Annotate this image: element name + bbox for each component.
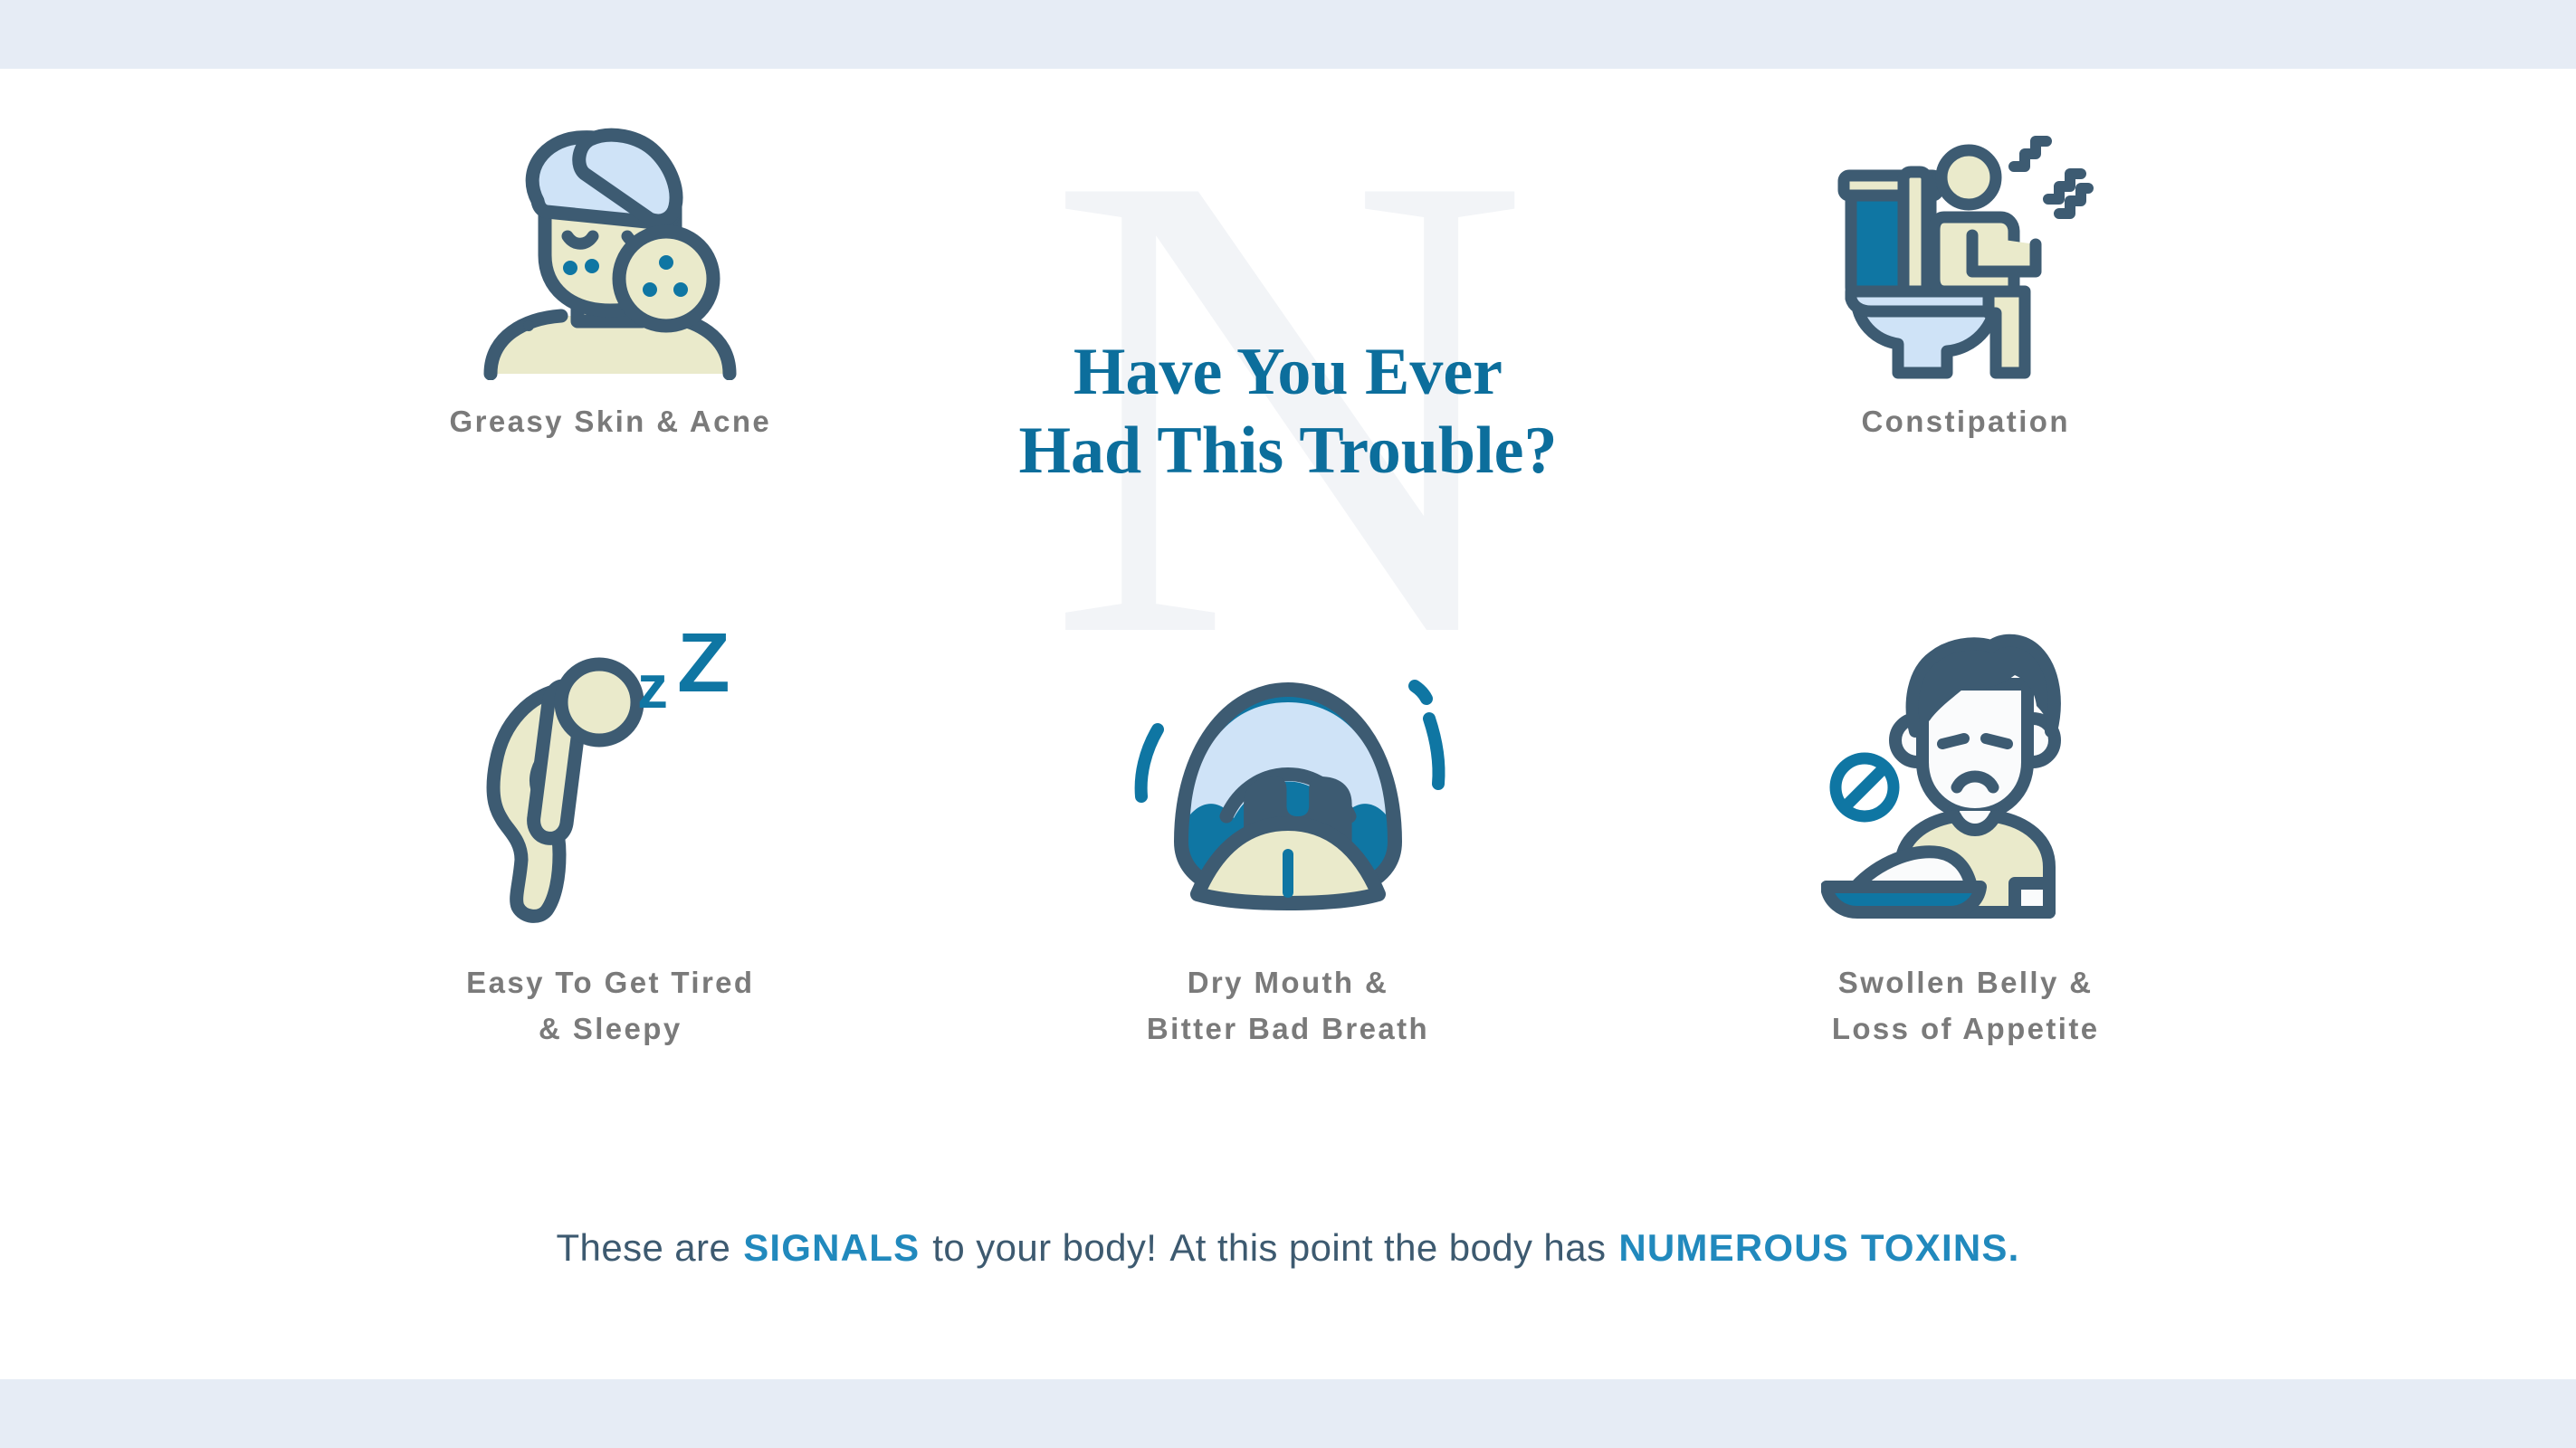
bottom-accent-band [0, 1379, 2576, 1448]
symptom-label: Easy To Get Tired & Sleepy [466, 959, 754, 1052]
person-on-toilet-icon [1835, 109, 2097, 380]
symptom-label: Swollen Belly & Loss of Appetite [1832, 959, 2100, 1052]
page-title: Have You Ever Had This Trouble? [1018, 333, 1557, 491]
footer-part-2: to your body! [932, 1226, 1157, 1269]
footer-emphasis-signals: SIGNALS [743, 1226, 920, 1269]
infographic-poster: N [0, 0, 2576, 1448]
slumped-person-zzz-icon: z Z [474, 561, 746, 923]
top-accent-band [0, 0, 2576, 69]
symptom-card-dry-mouth: Dry Mouth & Bitter Bad Breath [949, 561, 1627, 1140]
svg-text:Z: Z [677, 633, 730, 710]
footer-part-3: At this point the body has [1169, 1226, 1606, 1269]
footer-part-1: These are [557, 1226, 731, 1269]
symptom-card-swollen-belly: Swollen Belly & Loss of Appetite [1627, 561, 2304, 1140]
svg-text:z: z [637, 653, 668, 721]
symptom-grid: Greasy Skin & Acne Have You Ever Had Thi… [272, 109, 2304, 1149]
footer-emphasis-toxins: NUMEROUS TOXINS. [1618, 1226, 2019, 1269]
symptom-label: Constipation [1861, 398, 2069, 444]
symptom-card-tired-sleepy: z Z Easy To Get Tired & Sleepy [272, 561, 949, 1140]
symptom-card-greasy-skin-acne: Greasy Skin & Acne [272, 109, 949, 561]
sad-man-no-food-icon [1821, 561, 2111, 923]
footer-statement: These areSIGNALSto your body!At this poi… [0, 1226, 2576, 1270]
headline-block: Have You Ever Had This Trouble? [949, 109, 1627, 561]
open-mouth-icon [1125, 561, 1451, 923]
woman-towel-acne-icon [474, 109, 746, 380]
symptom-label: Dry Mouth & Bitter Bad Breath [1147, 959, 1429, 1052]
symptom-label: Greasy Skin & Acne [450, 398, 772, 444]
symptom-card-constipation: Constipation [1627, 109, 2304, 561]
